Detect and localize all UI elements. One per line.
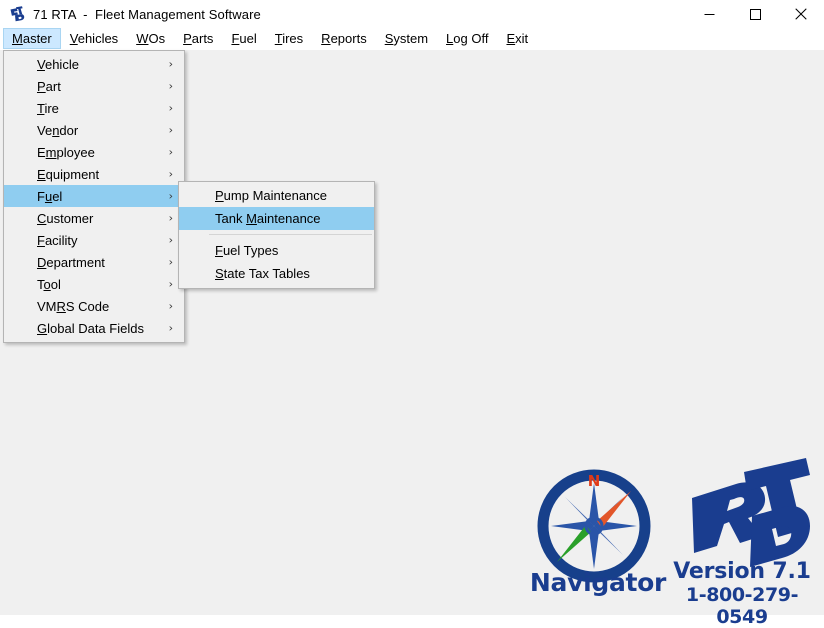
menu-item-label: Customer: [37, 211, 93, 226]
menu-item-label: Tire: [37, 101, 59, 116]
window-controls: [686, 0, 824, 28]
menu-item-vmrs-code[interactable]: VMRS Code ›: [4, 295, 184, 317]
submenu-item-label: Fuel Types: [215, 243, 278, 258]
menu-item-tire[interactable]: Tire ›: [4, 97, 184, 119]
menubar-item-tires[interactable]: Tires: [266, 28, 312, 49]
submenu-item-pump-maintenance[interactable]: Pump Maintenance: [179, 184, 374, 207]
menubar-item-wos[interactable]: WOs: [127, 28, 174, 49]
menu-item-label: Facility: [37, 233, 77, 248]
menubar-label-tires: Tires: [275, 31, 303, 46]
chevron-right-icon: ›: [169, 125, 173, 136]
menu-item-facility[interactable]: Facility ›: [4, 229, 184, 251]
application-window: 71 RTA - Fleet Management Software Maste…: [0, 0, 824, 615]
chevron-right-icon: ›: [169, 147, 173, 158]
menu-item-tool[interactable]: Tool ›: [4, 273, 184, 295]
master-dropdown-menu: Vehicle › Part › Tire › Vendor › Employe…: [3, 50, 185, 343]
title-bar: 71 RTA - Fleet Management Software: [0, 0, 824, 28]
menu-item-equipment[interactable]: Equipment ›: [4, 163, 184, 185]
menu-item-label: Tool: [37, 277, 61, 292]
chevron-right-icon: ›: [169, 59, 173, 70]
chevron-right-icon: ›: [169, 257, 173, 268]
menu-item-label: Equipment: [37, 167, 99, 182]
menubar-item-exit[interactable]: Exit: [497, 28, 537, 49]
menubar-label-master: Master: [12, 31, 52, 46]
menu-item-label: Vehicle: [37, 57, 79, 72]
menu-item-department[interactable]: Department ›: [4, 251, 184, 273]
chevron-right-icon: ›: [169, 81, 173, 92]
compass-north-letter: N: [588, 472, 601, 490]
menu-item-fuel[interactable]: Fuel ›: [4, 185, 184, 207]
menubar-item-master[interactable]: Master: [3, 28, 61, 49]
chevron-right-icon: ›: [169, 213, 173, 224]
menu-item-label: Vendor: [37, 123, 78, 138]
menubar-item-reports[interactable]: Reports: [312, 28, 376, 49]
menu-item-label: Department: [37, 255, 105, 270]
chevron-right-icon: ›: [169, 323, 173, 334]
menubar-item-log-off[interactable]: Log Off: [437, 28, 497, 49]
menu-item-part[interactable]: Part ›: [4, 75, 184, 97]
submenu-item-state-tax-tables[interactable]: State Tax Tables: [179, 262, 374, 285]
chevron-right-icon: ›: [169, 103, 173, 114]
submenu-item-fuel-types[interactable]: Fuel Types: [179, 239, 374, 262]
submenu-item-label: Tank Maintenance: [215, 211, 321, 226]
menu-item-label: Global Data Fields: [37, 321, 144, 336]
minimize-button[interactable]: [686, 0, 732, 28]
menu-item-global-data-fields[interactable]: Global Data Fields ›: [4, 317, 184, 339]
menubar-item-fuel[interactable]: Fuel: [222, 28, 265, 49]
version-label: Version 7.1: [672, 559, 812, 584]
menubar-label-fuel: Fuel: [231, 31, 256, 46]
rta-logo: [684, 458, 812, 568]
window-title: 71 RTA - Fleet Management Software: [33, 7, 261, 22]
menu-item-employee[interactable]: Employee ›: [4, 141, 184, 163]
chevron-right-icon: ›: [169, 279, 173, 290]
menubar-label-parts: Parts: [183, 31, 213, 46]
support-phone-label: 1-800-279-0549: [670, 584, 814, 628]
menubar-label-reports: Reports: [321, 31, 367, 46]
fuel-submenu: Pump Maintenance Tank Maintenance Fuel T…: [178, 181, 375, 289]
menubar-item-system[interactable]: System: [376, 28, 437, 49]
close-button[interactable]: [778, 0, 824, 28]
menubar-label-exit: Exit: [506, 31, 528, 46]
submenu-item-label: Pump Maintenance: [215, 188, 327, 203]
navigator-wordmark: Navigator: [512, 568, 684, 597]
submenu-item-tank-maintenance[interactable]: Tank Maintenance: [179, 207, 374, 230]
menu-item-vehicle[interactable]: Vehicle ›: [4, 53, 184, 75]
menu-item-label: Fuel: [37, 189, 62, 204]
menubar-item-vehicles[interactable]: Vehicles: [61, 28, 127, 49]
menubar-label-vehicles: Vehicles: [70, 31, 118, 46]
chevron-right-icon: ›: [169, 169, 173, 180]
menu-item-label: Part: [37, 79, 61, 94]
menubar-item-parts[interactable]: Parts: [174, 28, 222, 49]
submenu-separator: [209, 234, 372, 235]
rta-app-icon: [9, 6, 26, 23]
menubar-label-wos: WOs: [136, 31, 165, 46]
chevron-right-icon: ›: [169, 235, 173, 246]
menu-item-label: Employee: [37, 145, 95, 160]
menu-item-customer[interactable]: Customer ›: [4, 207, 184, 229]
menu-bar: Master Vehicles WOs Parts Fuel Tires Rep…: [0, 28, 824, 50]
menubar-label-system: System: [385, 31, 428, 46]
menubar-label-log-off: Log Off: [446, 31, 488, 46]
branding-area: N Navigator Version 7.1 1-800-279-0549: [512, 458, 812, 608]
chevron-right-icon: ›: [169, 301, 173, 312]
maximize-button[interactable]: [732, 0, 778, 28]
menu-item-label: VMRS Code: [37, 299, 109, 314]
submenu-item-label: State Tax Tables: [215, 266, 310, 281]
chevron-right-icon: ›: [169, 191, 173, 202]
menu-item-vendor[interactable]: Vendor ›: [4, 119, 184, 141]
